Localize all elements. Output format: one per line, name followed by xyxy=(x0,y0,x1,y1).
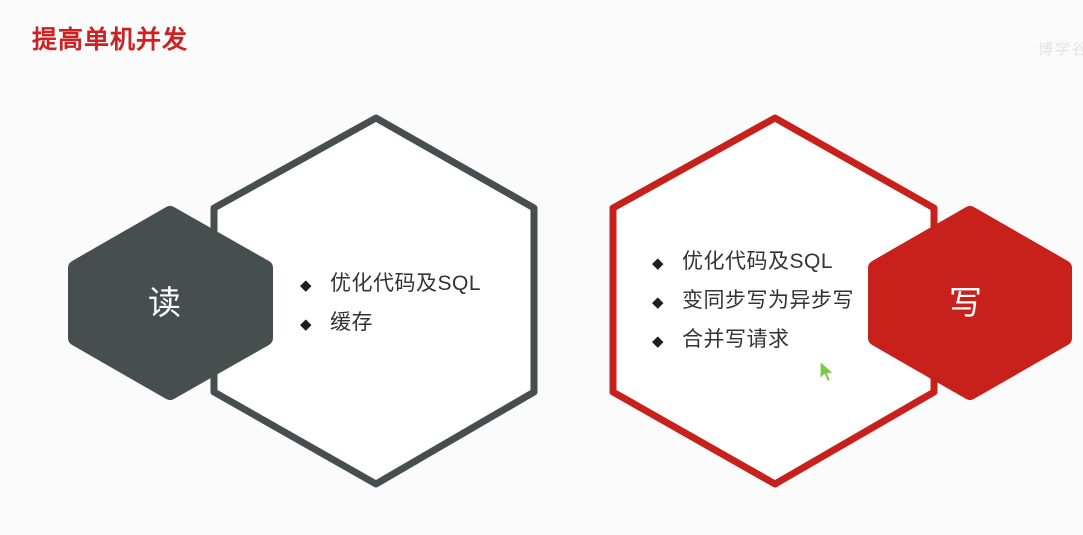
slide-canvas: 提高单机并发 博学谷 读 写 ◆ 优化代码及SQL ◆ 缓存 ◆ 优化代码及SQ… xyxy=(0,0,1083,535)
list-item-label: 变同步写为异步写 xyxy=(682,289,854,312)
list-item-label: 合并写请求 xyxy=(682,328,790,351)
list-item: ◆ 合并写请求 xyxy=(652,328,854,351)
list-item-label: 优化代码及SQL xyxy=(330,272,481,295)
hexagon-diagram xyxy=(0,0,1083,535)
diamond-bullet-icon: ◆ xyxy=(652,334,682,349)
diamond-bullet-icon: ◆ xyxy=(652,295,682,310)
list-item: ◆ 变同步写为异步写 xyxy=(652,289,854,312)
list-item: ◆ 优化代码及SQL xyxy=(652,250,854,273)
list-item: ◆ 优化代码及SQL xyxy=(300,272,481,295)
diamond-bullet-icon: ◆ xyxy=(300,317,330,332)
diamond-bullet-icon: ◆ xyxy=(300,278,330,293)
list-item-label: 缓存 xyxy=(330,311,373,334)
read-bullet-list: ◆ 优化代码及SQL ◆ 缓存 xyxy=(300,272,481,350)
diamond-bullet-icon: ◆ xyxy=(652,256,682,271)
list-item-label: 优化代码及SQL xyxy=(682,250,833,273)
list-item: ◆ 缓存 xyxy=(300,311,481,334)
write-bullet-list: ◆ 优化代码及SQL ◆ 变同步写为异步写 ◆ 合并写请求 xyxy=(652,250,854,367)
write-badge-label: 写 xyxy=(949,286,983,319)
read-badge-label: 读 xyxy=(148,286,182,319)
